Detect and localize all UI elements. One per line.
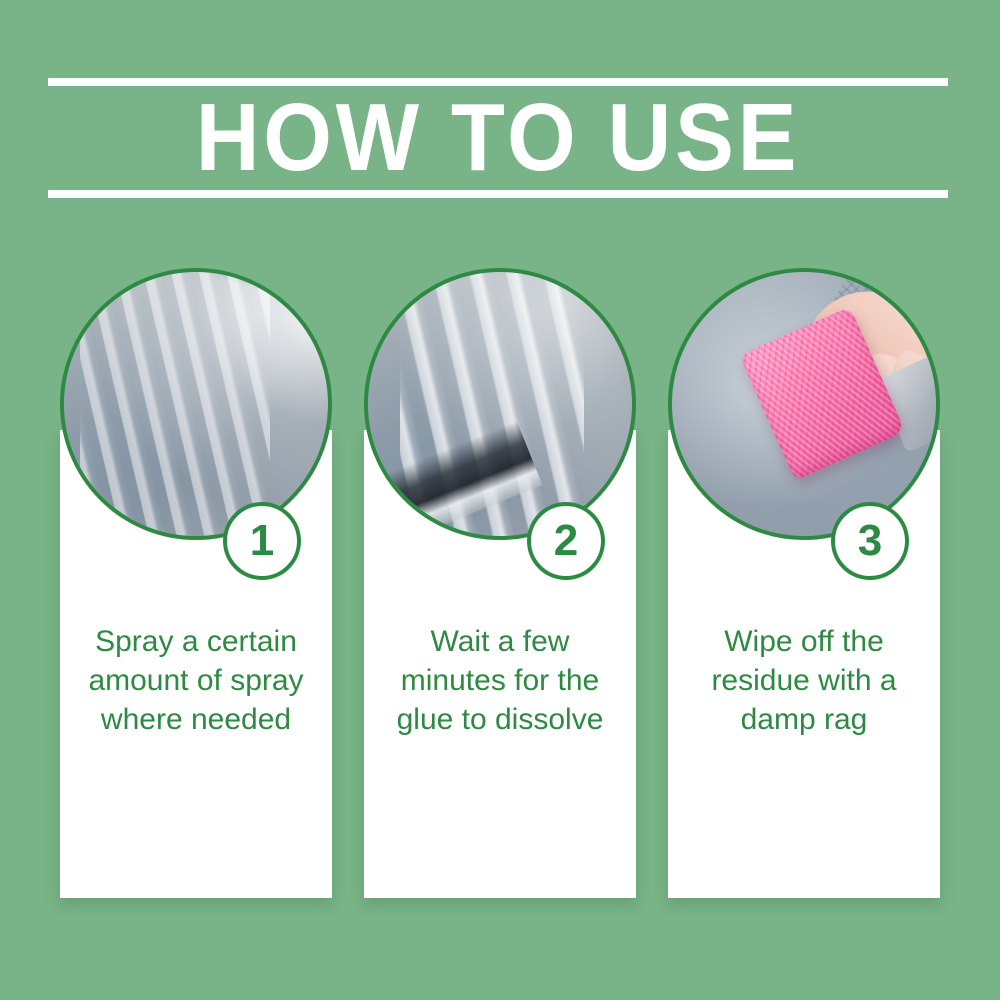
step-image-3: [668, 268, 940, 540]
steps-container: Spray a certain amount of spray where ne…: [60, 268, 940, 898]
step-caption-2: Wait a few minutes for the glue to disso…: [378, 622, 622, 739]
step-caption-3: Wipe off the residue with a damp rag: [682, 622, 926, 739]
title-rule-bottom: [48, 190, 948, 198]
step-caption-1: Spray a certain amount of spray where ne…: [74, 622, 318, 739]
step-image-2: [364, 268, 636, 540]
step-number-badge-3: 3: [831, 502, 909, 580]
header: HOW TO USE: [48, 78, 948, 202]
step-image-1: [60, 268, 332, 540]
step-number-badge-2: 2: [527, 502, 605, 580]
step-image-2-inner: [368, 272, 632, 536]
step-image-3-inner: [672, 272, 936, 536]
page-title: HOW TO USE: [84, 86, 912, 190]
step-image-1-inner: [64, 272, 328, 536]
step-number-badge-1: 1: [223, 502, 301, 580]
